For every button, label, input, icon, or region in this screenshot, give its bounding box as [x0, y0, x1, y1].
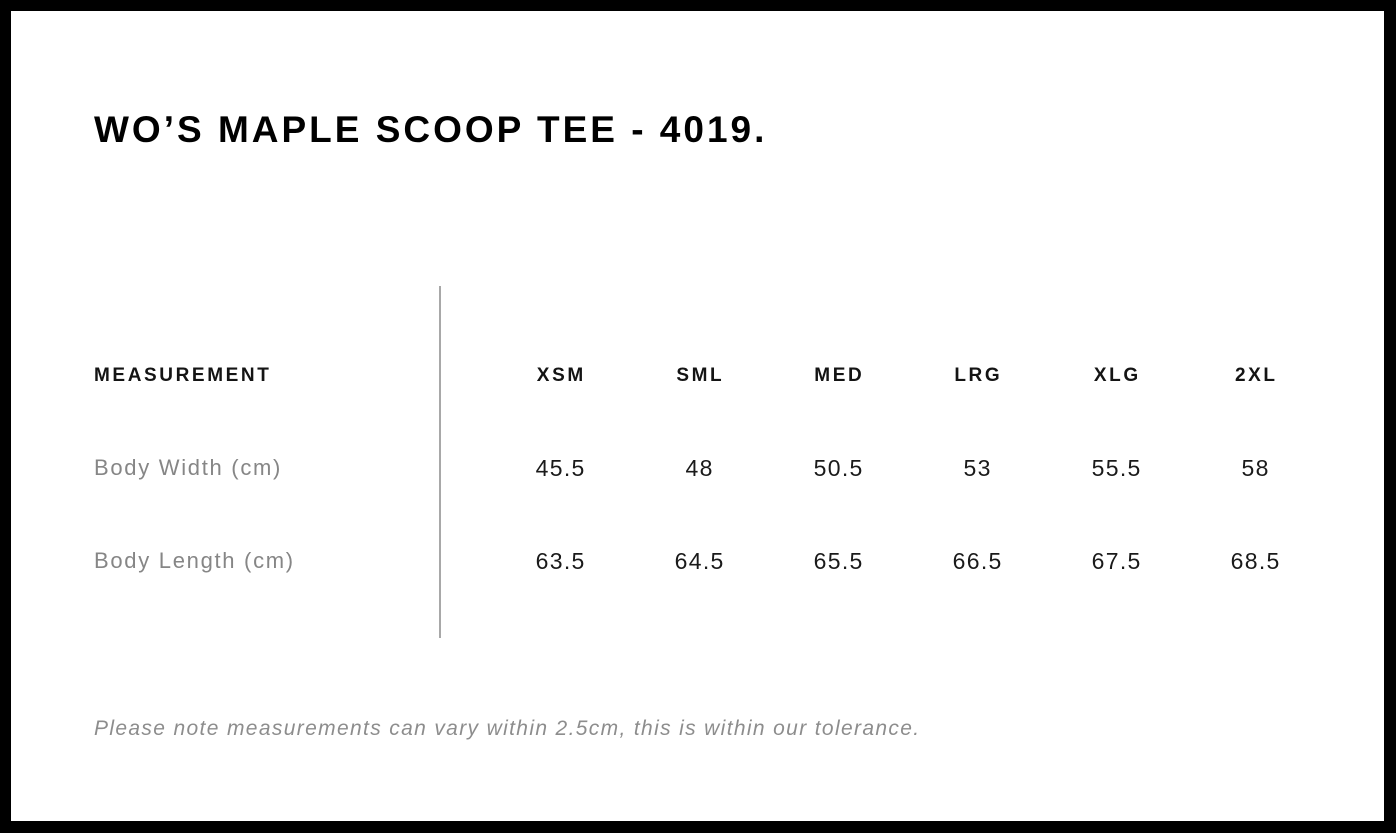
cell-body-width-med: 50.5 [768, 448, 908, 488]
cell-body-width-xsm: 45.5 [490, 448, 630, 488]
column-header-2xl: 2XL [1185, 356, 1325, 396]
cell-body-length-xlg: 67.5 [1046, 541, 1186, 581]
cell-body-length-lrg: 66.5 [907, 541, 1047, 581]
column-header-sml: SML [629, 356, 769, 396]
column-header-xsm: XSM [490, 356, 630, 396]
size-chart-frame: WO’S MAPLE SCOOP TEE - 4019. MEASUREMENT… [0, 0, 1396, 833]
cell-body-width-2xl: 58 [1185, 448, 1325, 488]
column-header-lrg: LRG [907, 356, 1047, 396]
row-label-body-length: Body Length (cm) [94, 541, 295, 581]
cell-body-width-xlg: 55.5 [1046, 448, 1186, 488]
cell-body-width-lrg: 53 [907, 448, 1047, 488]
page-title: WO’S MAPLE SCOOP TEE - 4019. [94, 109, 767, 151]
size-chart-sheet: WO’S MAPLE SCOOP TEE - 4019. MEASUREMENT… [11, 11, 1384, 821]
column-header-med: MED [768, 356, 908, 396]
cell-body-length-med: 65.5 [768, 541, 908, 581]
column-header-measurement: MEASUREMENT [94, 356, 271, 396]
column-header-xlg: XLG [1046, 356, 1186, 396]
cell-body-length-xsm: 63.5 [490, 541, 630, 581]
table-row: Body Length (cm) 63.5 64.5 65.5 66.5 67.… [11, 541, 1384, 581]
cell-body-length-2xl: 68.5 [1185, 541, 1325, 581]
table-row: Body Width (cm) 45.5 48 50.5 53 55.5 58 [11, 448, 1384, 488]
row-label-body-width: Body Width (cm) [94, 448, 282, 488]
cell-body-width-sml: 48 [629, 448, 769, 488]
cell-body-length-sml: 64.5 [629, 541, 769, 581]
table-header-row: MEASUREMENT XSM SML MED LRG XLG 2XL [11, 356, 1384, 396]
tolerance-note: Please note measurements can vary within… [94, 717, 920, 741]
